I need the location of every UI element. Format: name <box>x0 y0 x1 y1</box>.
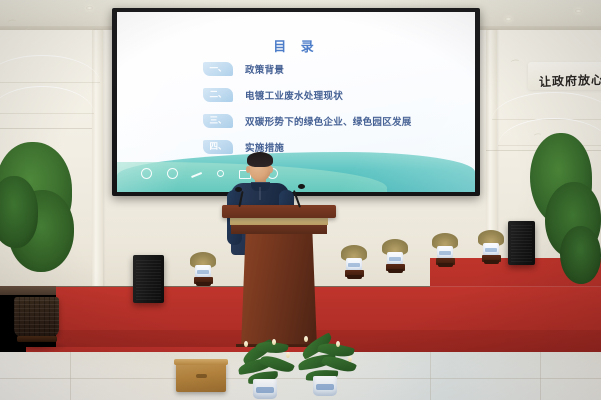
presenter-ear-left <box>246 166 250 173</box>
conference-photo-scene: ⁀ ⁀ ⁀ ⁀ 让政府放心 国之 目 录 一、 政策背景 二、 电镀工业废水处理… <box>0 0 601 400</box>
floor-tile-seam-3 <box>430 352 431 400</box>
floor-reflection <box>0 352 601 400</box>
wall-slogan-top: 让政府放心 <box>539 71 601 90</box>
bird-decal-1: ⁀ <box>8 22 16 32</box>
projection-screen: 目 录 一、 政策背景 二、 电镀工业废水处理现状 三、 双碳形势下的绿色企业、… <box>117 12 475 192</box>
toc-number-4: 四、 <box>203 140 233 154</box>
front-plant-a-pot <box>253 379 277 399</box>
downlight-4 <box>86 6 93 10</box>
front-plant-b-bud-1 <box>304 336 308 342</box>
presenter-placket <box>259 187 261 200</box>
presenter-ear-right <box>269 166 273 173</box>
toc-item-2: 二、 电镀工业废水处理现状 <box>203 84 473 106</box>
toc-label-1: 政策背景 <box>245 62 284 76</box>
pa-speaker-right-grille <box>511 224 532 262</box>
front-plant-b-pot <box>313 376 337 396</box>
slide-circle-icon-1 <box>141 168 152 179</box>
floor-tile-seam-4 <box>540 352 541 400</box>
wall-seam-left <box>0 128 92 129</box>
toc-number-1: 一、 <box>203 62 233 76</box>
bird-decal-2: ⁀ <box>26 30 33 38</box>
toc-number-2: 二、 <box>203 88 233 102</box>
podium-accent-band <box>230 217 328 225</box>
slide-circle-icon-2 <box>167 168 178 179</box>
plant-left-basket-weave <box>14 297 59 337</box>
front-plant-a-bud-2 <box>272 339 276 345</box>
plant-right-foliage-c <box>560 226 601 284</box>
bird-decal-3: ⁀ <box>511 62 519 72</box>
front-plant-a-bud-1 <box>244 341 248 347</box>
toc-item-3: 三、 双碳形势下的绿色企业、绿色园区发展 <box>203 110 473 132</box>
toc-number-3: 三、 <box>203 114 233 128</box>
step-stool-handle-hole <box>196 374 207 378</box>
slide-toc-list: 一、 政策背景 二、 电镀工业废水处理现状 三、 双碳形势下的绿色企业、绿色园区… <box>203 58 473 162</box>
podium-body <box>241 233 317 348</box>
front-plant-a-bud-3 <box>286 352 290 358</box>
presenter-hair <box>247 152 273 167</box>
front-plant-b-bud-3 <box>348 356 352 362</box>
microphone-head-left <box>235 187 242 192</box>
toc-label-2: 电镀工业废水处理现状 <box>245 88 343 102</box>
downlight-2 <box>505 17 512 21</box>
slide-dot-icon <box>217 170 224 177</box>
downlight-3 <box>575 9 582 13</box>
slide-title: 目 录 <box>117 36 475 55</box>
floor-tile-seam-2 <box>70 352 71 400</box>
toc-item-1: 一、 政策背景 <box>203 58 473 80</box>
pa-speaker-left-grille <box>136 258 161 300</box>
plant-left-shadow <box>6 340 68 353</box>
microphone-head-right <box>298 184 305 189</box>
podium-neck <box>231 224 327 234</box>
toc-label-3: 双碳形势下的绿色企业、绿色园区发展 <box>245 114 412 128</box>
step-stool-top <box>174 359 228 365</box>
floor-tile-seam-1 <box>0 378 601 379</box>
front-plant-b-bud-2 <box>336 341 340 347</box>
